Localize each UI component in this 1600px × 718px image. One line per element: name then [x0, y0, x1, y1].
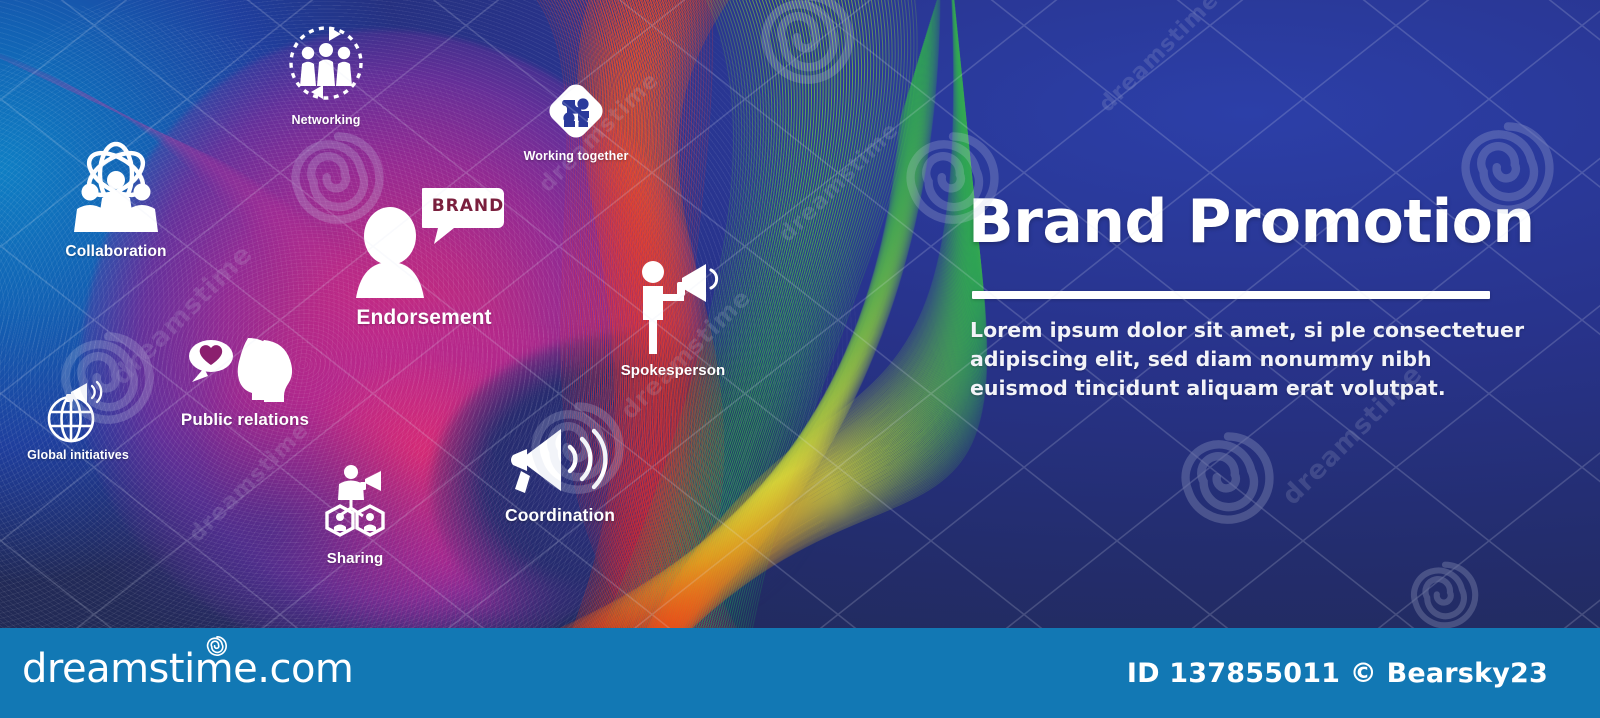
dreamstime-logo[interactable]: dreamstime.com — [22, 646, 353, 692]
brand-bubble-text: BRAND — [431, 196, 505, 216]
people-in-dashed-circle-icon — [283, 22, 369, 108]
icon-endorsement[interactable]: BRAND Endorsement — [334, 184, 514, 330]
icon-label: Public relations — [170, 410, 320, 430]
globe-megaphone-icon — [39, 380, 117, 446]
artwork-area: Collaboration Networking — [0, 0, 1600, 628]
person-hexagon-network-icon — [303, 463, 407, 547]
page-title: Brand Promotion — [968, 192, 1535, 253]
icon-global-initiatives[interactable]: Global initiatives — [22, 380, 134, 462]
icon-label: Sharing — [300, 550, 410, 567]
dreamstime-footer-bar: dreamstime.com ID 137855011 © Bearsky23 — [0, 628, 1600, 718]
icon-networking[interactable]: Networking — [271, 22, 381, 127]
icon-label: Collaboration — [46, 243, 186, 261]
megaphone-waves-icon — [507, 425, 613, 497]
icon-coordination[interactable]: Coordination — [495, 425, 625, 526]
puzzle-diamond-icon — [545, 80, 607, 142]
icon-working-together[interactable]: Working together — [521, 80, 631, 163]
icon-label: Working together — [521, 149, 631, 163]
icon-label: Endorsement — [334, 306, 514, 330]
person-megaphone-icon — [625, 256, 721, 358]
icon-public-relations[interactable]: Public relations — [170, 334, 320, 430]
icon-spokesperson[interactable]: Spokesperson — [608, 256, 738, 379]
icon-collaboration[interactable]: Collaboration — [46, 140, 186, 261]
head-heart-bubble-icon — [186, 334, 304, 402]
title-divider — [972, 291, 1490, 299]
rainbow-ribbon-artwork — [0, 0, 1600, 628]
icon-sharing[interactable]: Sharing — [300, 463, 410, 567]
icon-label: Networking — [271, 113, 381, 127]
dreamstime-spiral-icon — [206, 635, 228, 657]
icon-label: Spokesperson — [608, 362, 738, 379]
icon-label: Coordination — [495, 505, 625, 526]
icon-label: Global initiatives — [22, 448, 134, 462]
image-credit: ID 137855011 © Bearsky23 — [1127, 658, 1548, 689]
dreamstime-logo-text: dreamstime.com — [22, 646, 353, 692]
body-paragraph: Lorem ipsum dolor sit amet, si ple conse… — [970, 316, 1530, 403]
stock-image-preview: Collaboration Networking — [0, 0, 1600, 718]
people-atom-icon — [62, 140, 170, 238]
